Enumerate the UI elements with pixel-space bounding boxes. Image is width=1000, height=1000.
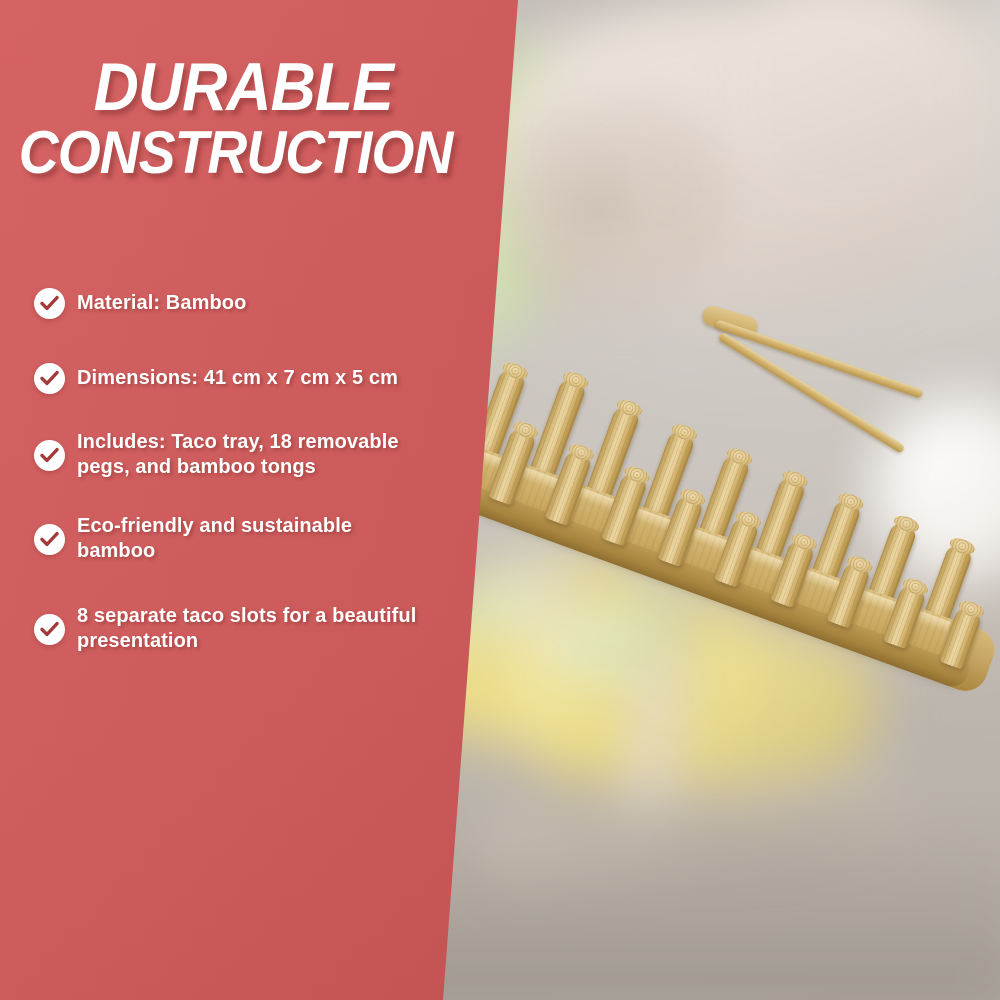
tongs-arm-lower (718, 332, 906, 454)
headline-line-1: DURABLE (19, 52, 451, 122)
tongs-arm-upper (715, 319, 924, 398)
tray-peg (487, 426, 537, 506)
feature-text: Eco-friendly and sustainable bamboo (77, 514, 434, 564)
tray-peg (826, 560, 872, 629)
tray-peg (882, 582, 928, 649)
feature-item-eco-friendly: Eco-friendly and sustainable bamboo (34, 514, 434, 564)
product-infographic: DURABLE CONSTRUCTION Material: Bamboo Di… (0, 0, 1000, 1000)
bamboo-tongs (700, 305, 990, 495)
feature-text: Includes: Taco tray, 18 removable pegs, … (77, 430, 434, 480)
feature-text: 8 separate taco slots for a beautiful pr… (77, 604, 434, 654)
feature-text: Dimensions: 41 cm x 7 cm x 5 cm (77, 366, 398, 391)
feature-text: Material: Bamboo (77, 291, 246, 316)
feature-item-includes: Includes: Taco tray, 18 removable pegs, … (34, 430, 434, 480)
tray-peg (600, 470, 649, 547)
check-circle-icon (34, 288, 65, 319)
check-circle-icon (34, 363, 65, 394)
headline-block: DURABLE CONSTRUCTION (0, 52, 470, 184)
headline-line-2: CONSTRUCTION (19, 122, 451, 184)
check-circle-icon (34, 440, 65, 471)
feature-item-dimensions: Dimensions: 41 cm x 7 cm x 5 cm (34, 363, 434, 394)
tray-peg (713, 515, 761, 588)
check-circle-icon (34, 524, 65, 555)
feature-list: Material: Bamboo Dimensions: 41 cm x 7 c… (34, 288, 434, 680)
check-circle-icon (34, 614, 65, 645)
tray-peg (769, 538, 816, 609)
tray-peg (544, 448, 594, 526)
feature-item-taco-slots: 8 separate taco slots for a beautiful pr… (34, 604, 434, 654)
tray-peg (657, 493, 705, 568)
feature-item-material: Material: Bamboo (34, 288, 434, 319)
